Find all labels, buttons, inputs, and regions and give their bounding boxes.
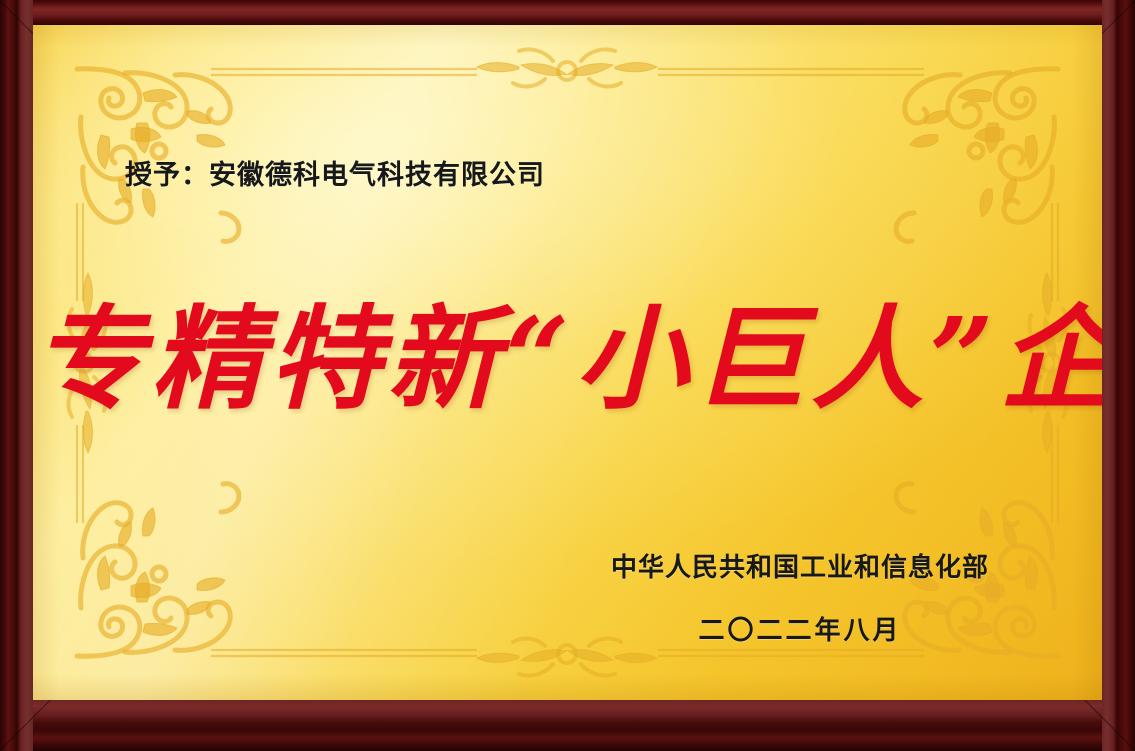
frame-top-rail [0, 0, 1135, 25]
frame-left-stile [0, 0, 33, 751]
issuer-block: 中华人民共和国工业和信息化部 二〇二二年八月 [590, 547, 1010, 647]
frame-bottom-rail [0, 700, 1135, 751]
frame-right-stile [1102, 0, 1135, 751]
awardee-line: 授予：安徽德科电气科技有限公司 [125, 153, 545, 192]
page-title: 专精特新“小巨人”企业 [33, 297, 1102, 422]
award-plaque: 授予：安徽德科电气科技有限公司 专精特新“小巨人”企业 中华人民共和国工业和信息… [0, 0, 1135, 751]
gold-plate: 授予：安徽德科电气科技有限公司 专精特新“小巨人”企业 中华人民共和国工业和信息… [33, 25, 1102, 700]
issue-date: 二〇二二年八月 [590, 610, 1010, 647]
issuing-authority: 中华人民共和国工业和信息化部 [590, 547, 1010, 584]
